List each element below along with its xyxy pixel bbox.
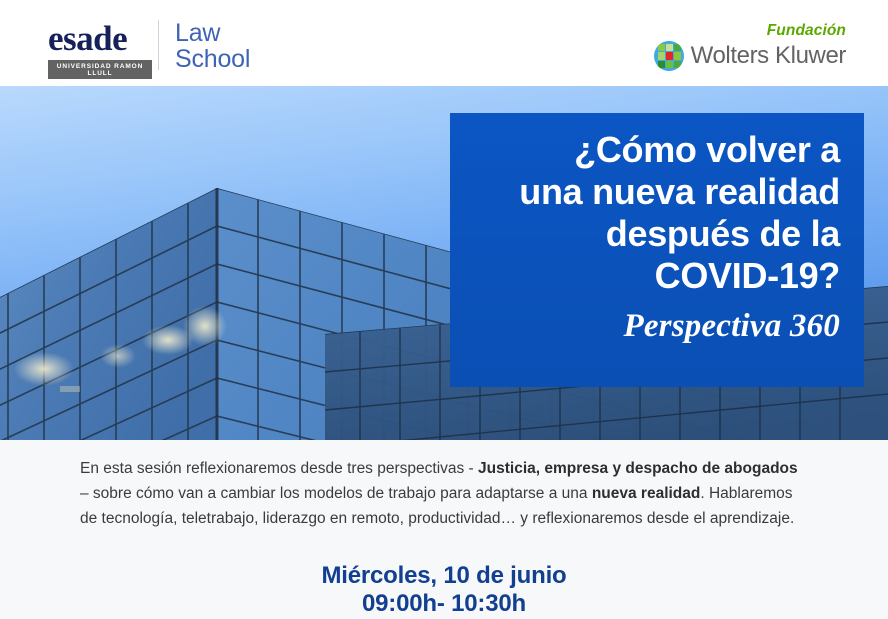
event-description: En esta sesión reflexionaremos desde tre… (80, 456, 810, 531)
poster-header: esade UNIVERSIDAD RAMON LLULL Law School… (0, 0, 888, 86)
law-school-line-2: School (175, 46, 250, 72)
wolters-kluwer-globe-icon (654, 41, 684, 71)
description-run-2: – sobre cómo van a cambiar los modelos d… (80, 485, 592, 502)
description-run-1: Justicia, empresa y despacho de abogados (478, 460, 798, 477)
event-date: Miércoles, 10 de junio (0, 562, 888, 590)
wolters-kluwer-grid (658, 44, 681, 68)
law-school-label: Law School (175, 20, 250, 72)
logo-divider (158, 20, 159, 70)
esade-tagline-badge: UNIVERSIDAD RAMON LLULL (48, 60, 152, 79)
title-box: ¿Cómo volver a una nueva realidad despué… (450, 113, 864, 387)
event-datetime: Miércoles, 10 de junio 09:00h- 10:30h (0, 562, 888, 618)
wolters-kluwer-name: Wolters Kluwer (691, 43, 846, 69)
event-title-line-2: después de la (470, 213, 840, 255)
event-title: ¿Cómo volver a una nueva realidad despué… (470, 129, 840, 297)
esade-wordmark-group: esade UNIVERSIDAD RAMON LLULL (48, 22, 152, 79)
event-title-line-0: ¿Cómo volver a (470, 129, 840, 171)
wolters-kluwer-row: Wolters Kluwer (654, 41, 846, 71)
event-title-line-1: una nueva realidad (470, 171, 840, 213)
hero-banner: ¿Cómo volver a una nueva realidad despué… (0, 86, 888, 440)
description-run-3: nueva realidad (592, 485, 701, 502)
event-poster: esade UNIVERSIDAD RAMON LLULL Law School… (0, 0, 888, 619)
wolters-kluwer-logo[interactable]: Fundación Wolters Kluwer (654, 22, 846, 71)
law-school-line-1: Law (175, 20, 250, 46)
description-run-0: En esta sesión reflexionaremos desde tre… (80, 460, 478, 477)
poster-body: En esta sesión reflexionaremos desde tre… (0, 440, 888, 619)
event-subtitle: Perspectiva 360 (470, 307, 840, 345)
event-title-line-3: COVID-19? (470, 255, 840, 297)
esade-wordmark: esade (48, 22, 152, 56)
event-time: 09:00h- 10:30h (0, 590, 888, 618)
fundacion-label: Fundación (654, 22, 846, 40)
